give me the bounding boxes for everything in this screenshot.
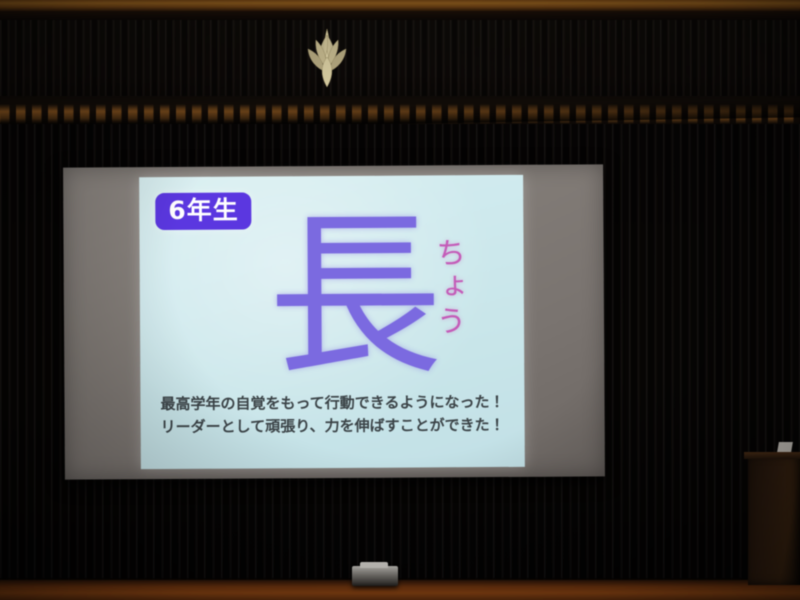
projection-screen: 6年生 長 ちょう 最高学年の自覚をもって行動できるようになった！ リーダーとし… xyxy=(63,164,605,479)
stage-curtain-upper xyxy=(0,20,800,100)
wooden-lectern xyxy=(748,455,800,585)
stage-floor xyxy=(0,580,800,600)
slide-caption-line-2: リーダーとして頑張り、力を伸ばすことができた！ xyxy=(149,414,517,439)
presentation-slide: 6年生 長 ちょう 最高学年の自覚をもって行動できるようになった！ リーダーとし… xyxy=(139,175,525,469)
lectern-top xyxy=(744,452,800,459)
kanji-character: 長 xyxy=(267,209,443,385)
lotus-flower-emblem xyxy=(303,27,351,89)
white-equipment-box xyxy=(352,566,398,586)
slide-caption: 最高学年の自覚をもって行動できるようになった！ リーダーとして頑張り、力を伸ばす… xyxy=(140,390,524,439)
ceiling-beam-shadow xyxy=(0,11,800,20)
slide-caption-line-1: 最高学年の自覚をもって行動できるようになった！ xyxy=(148,390,516,415)
ceiling-beam xyxy=(0,0,800,11)
lectern-paper xyxy=(777,442,793,452)
auditorium-photo: 6年生 長 ちょう 最高学年の自覚をもって行動できるようになった！ リーダーとし… xyxy=(0,0,800,600)
furigana-reading: ちょう xyxy=(429,237,465,339)
white-equipment-box-top xyxy=(360,562,388,568)
grade-badge: 6年生 xyxy=(155,193,252,231)
